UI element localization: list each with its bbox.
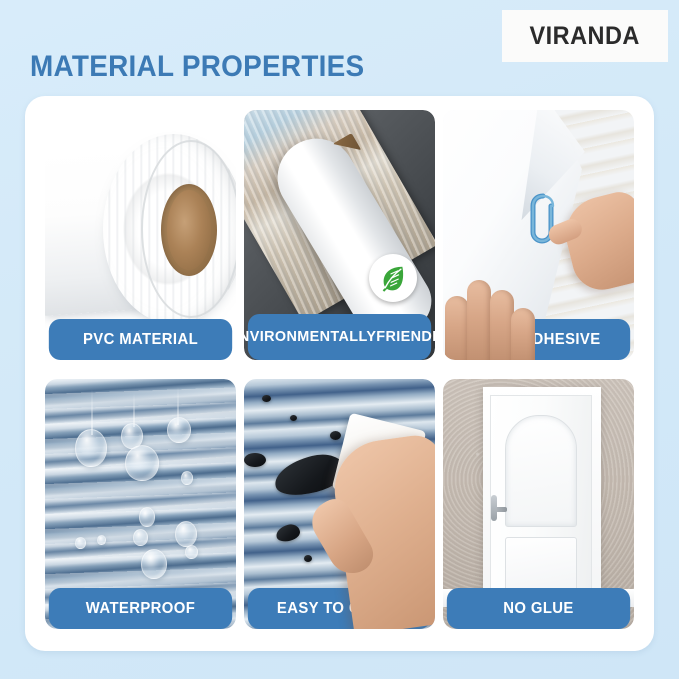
dirt-spot (244, 453, 266, 467)
feature-label-environmentally-friendly: ENVIRONMENTALLY FRIENDLY (248, 314, 431, 360)
door-handle (493, 507, 507, 512)
feature-label-no-glue: NO GLUE (447, 588, 630, 629)
water-droplet (75, 537, 86, 549)
paperclip-icon (521, 188, 565, 255)
water-droplet (125, 445, 159, 481)
feature-card-no-glue[interactable]: NO GLUE (443, 379, 634, 629)
feature-card-environmentally-friendly[interactable]: ENVIRONMENTALLY FRIENDLY (244, 110, 435, 360)
water-droplet (75, 429, 107, 467)
dirt-spot (304, 555, 312, 562)
water-trail (133, 393, 135, 427)
water-droplet (167, 417, 191, 443)
feature-label-line-2: FRIENDLY (376, 329, 435, 344)
dirt-spot (290, 415, 297, 421)
page-header: MATERIAL PROPERTIES VIRANDA (0, 0, 679, 96)
door-panel-upper (505, 415, 577, 527)
page-title: MATERIAL PROPERTIES (30, 50, 364, 84)
feature-grid: PVC MATERIAL ENVIRON (43, 110, 636, 638)
feature-panel: PVC MATERIAL ENVIRON (25, 96, 654, 651)
water-droplet (181, 471, 193, 485)
brand-name: VIRANDA (530, 22, 640, 51)
pvc-core-inner (167, 190, 211, 270)
leaf-icon (369, 254, 417, 302)
dirt-spot (330, 431, 341, 440)
feature-card-waterproof[interactable]: WATERPROOF (45, 379, 236, 629)
brand-logo-box: VIRANDA (502, 10, 668, 62)
left-hand-fingers (445, 256, 537, 360)
water-droplet (175, 521, 197, 547)
dirt-smear (274, 522, 301, 543)
feature-label-waterproof: WATERPROOF (49, 588, 232, 629)
water-droplet (133, 529, 148, 546)
water-droplet (139, 507, 155, 527)
thumb (304, 493, 379, 582)
feature-label-line-1: ENVIRONMENTALLY (244, 329, 376, 344)
water-droplet (141, 549, 167, 579)
feature-card-easy-to-clean[interactable]: EASY TO CLEAN (244, 379, 435, 629)
feature-label-pvc-material: PVC MATERIAL (49, 319, 232, 360)
feature-card-self-adhesive[interactable]: SELF-ADHESIVE (443, 110, 634, 360)
dirt-spot (262, 395, 271, 402)
water-droplet (185, 545, 198, 559)
feature-card-pvc-material[interactable]: PVC MATERIAL (45, 110, 236, 360)
water-droplet (97, 535, 106, 545)
